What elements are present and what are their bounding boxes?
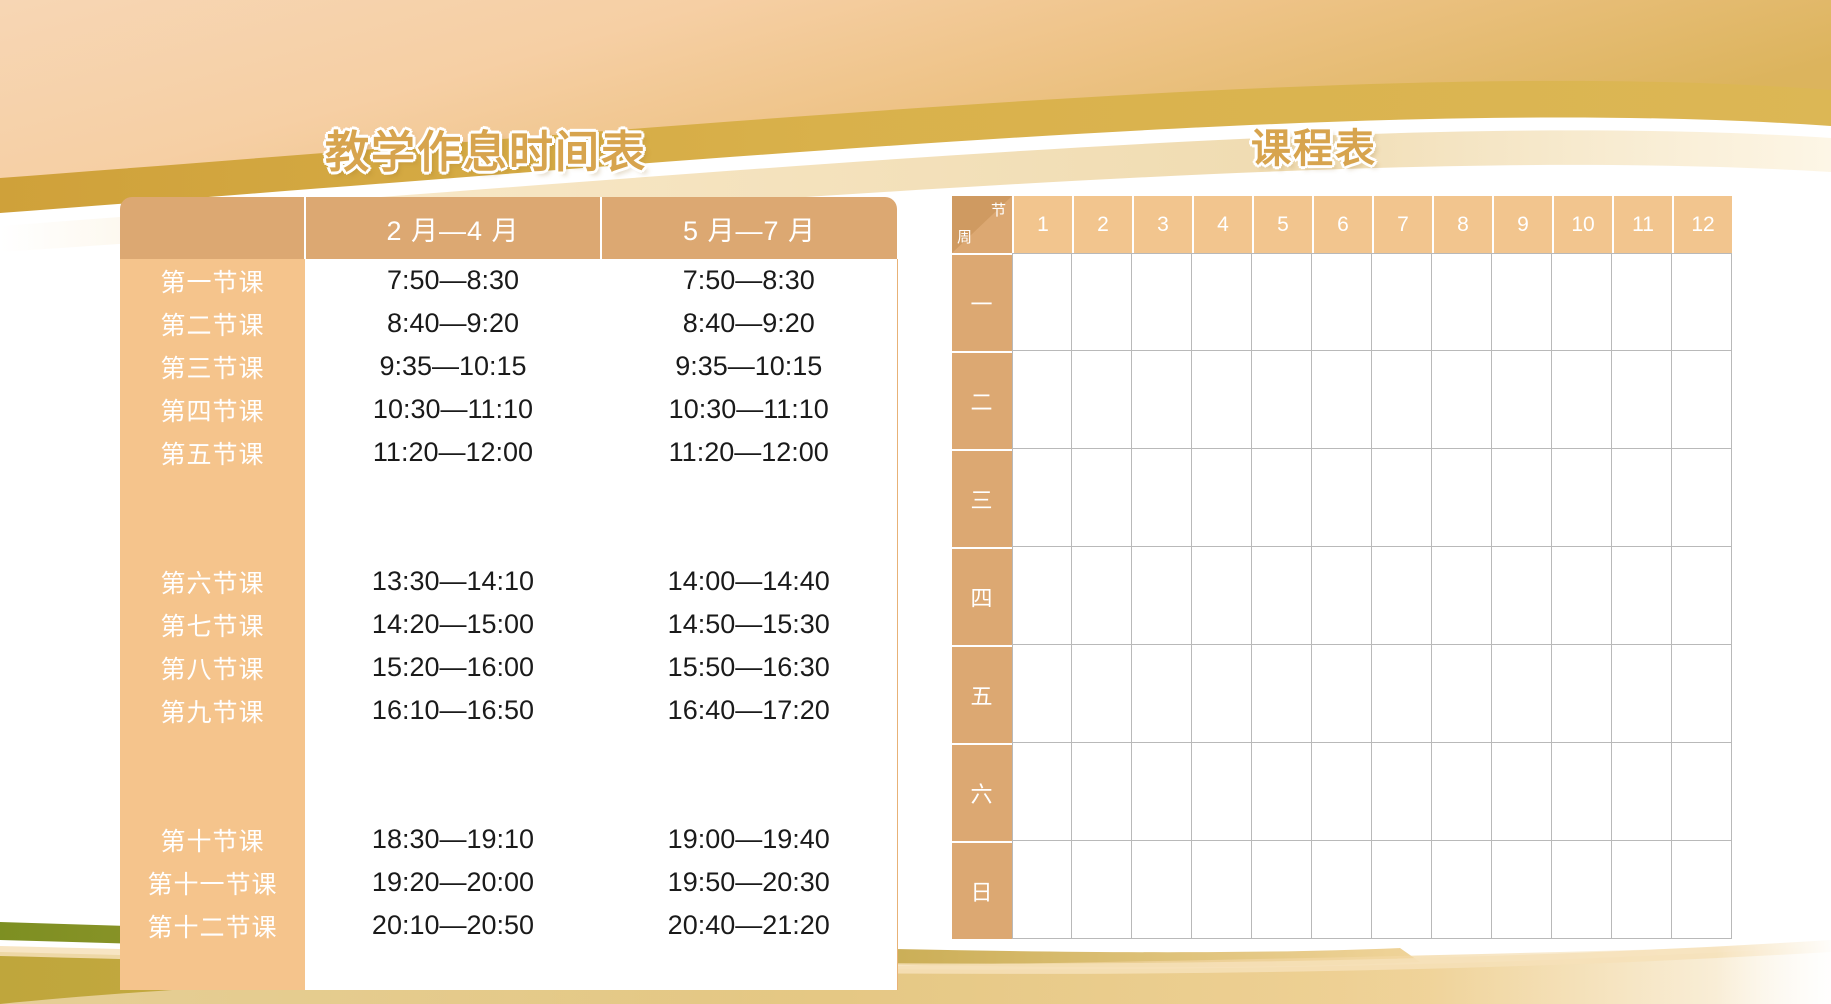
course-cell[interactable]: [1672, 645, 1732, 743]
course-cell[interactable]: [1612, 645, 1672, 743]
timetable-head: 2 月—4 月 5 月—7 月: [120, 197, 897, 259]
course-grid-row: 四: [952, 547, 1732, 645]
course-cell[interactable]: [1312, 547, 1372, 645]
divider-time-cell: [305, 732, 601, 775]
period-label: 第三节课: [120, 345, 305, 388]
course-cell[interactable]: [1552, 645, 1612, 743]
course-cell[interactable]: [1312, 253, 1372, 351]
timetable-body: 第一节课7:50—8:307:50—8:30第二节课8:40—9:208:40—…: [120, 259, 897, 990]
course-cell[interactable]: [1612, 841, 1672, 939]
gap-label-cell: [120, 517, 305, 560]
period-label: 第十二节课: [120, 904, 305, 947]
course-cell[interactable]: [1072, 743, 1132, 841]
course-cell[interactable]: [1672, 841, 1732, 939]
course-cell[interactable]: [1432, 743, 1492, 841]
period-label: 第二节课: [120, 302, 305, 345]
timetable-row: 第九节课16:10—16:5016:40—17:20: [120, 689, 897, 732]
course-cell[interactable]: [1192, 449, 1252, 547]
course-cell[interactable]: [1672, 743, 1732, 841]
period-label: 第一节课: [120, 259, 305, 302]
course-cell[interactable]: [1192, 841, 1252, 939]
course-cell[interactable]: [1192, 351, 1252, 449]
course-cell[interactable]: [1132, 841, 1192, 939]
timetable-section-divider: [120, 732, 897, 775]
divider-label-cell: [120, 474, 305, 517]
course-cell[interactable]: [1492, 253, 1552, 351]
course-cell[interactable]: [1132, 351, 1192, 449]
course-cell[interactable]: [1072, 645, 1132, 743]
timetable-row: 第十二节课20:10—20:5020:40—21:20: [120, 904, 897, 947]
period-label: 第六节课: [120, 560, 305, 603]
course-cell[interactable]: [1372, 645, 1432, 743]
time-spring: 13:30—14:10: [305, 560, 601, 603]
course-cell[interactable]: [1072, 547, 1132, 645]
divider-time-cell: [305, 474, 601, 517]
period-header-11[interactable]: 11: [1612, 196, 1672, 253]
course-grid-row: 六: [952, 743, 1732, 841]
course-cell[interactable]: [1432, 841, 1492, 939]
course-cell[interactable]: [1312, 645, 1372, 743]
time-spring: 11:20—12:00: [305, 431, 601, 474]
course-cell[interactable]: [1312, 449, 1372, 547]
time-summer: 16:40—17:20: [601, 689, 897, 732]
day-label-日: 日: [952, 841, 1012, 939]
day-label-一: 一: [952, 253, 1012, 351]
course-cell[interactable]: [1192, 645, 1252, 743]
course-cell[interactable]: [1432, 547, 1492, 645]
period-header-9[interactable]: 9: [1492, 196, 1552, 253]
timetable-row: 第十一节课19:20—20:0019:50—20:30: [120, 861, 897, 904]
course-cell[interactable]: [1252, 351, 1312, 449]
course-cell[interactable]: [1012, 253, 1072, 351]
timetable-row: 第五节课11:20—12:0011:20—12:00: [120, 431, 897, 474]
course-cell[interactable]: [1072, 841, 1132, 939]
period-header-5[interactable]: 5: [1252, 196, 1312, 253]
course-cell[interactable]: [1072, 449, 1132, 547]
timetable-header-blank: [120, 197, 305, 259]
period-header-7[interactable]: 7: [1372, 196, 1432, 253]
timetable-section-gap: [120, 775, 897, 818]
course-cell[interactable]: [1432, 351, 1492, 449]
course-grid-row: 二: [952, 351, 1732, 449]
course-cell[interactable]: [1672, 253, 1732, 351]
course-cell[interactable]: [1252, 743, 1312, 841]
course-cell[interactable]: [1132, 743, 1192, 841]
course-cell[interactable]: [1372, 449, 1432, 547]
course-grid-panel: 节 周 123456789101112 一二三四五六日: [952, 196, 1732, 939]
time-summer: 11:20—12:00: [601, 431, 897, 474]
time-spring: 20:10—20:50: [305, 904, 601, 947]
course-grid-row: 五: [952, 645, 1732, 743]
period-header-12[interactable]: 12: [1672, 196, 1732, 253]
time-spring: 15:20—16:00: [305, 646, 601, 689]
course-cell[interactable]: [1192, 253, 1252, 351]
period-label: 第五节课: [120, 431, 305, 474]
course-cell[interactable]: [1612, 253, 1672, 351]
day-label-六: 六: [952, 743, 1012, 841]
course-cell[interactable]: [1672, 351, 1732, 449]
course-cell[interactable]: [1432, 645, 1492, 743]
period-label: 第四节课: [120, 388, 305, 431]
course-cell[interactable]: [1672, 449, 1732, 547]
timetable-section-gap: [120, 517, 897, 560]
page-title-course-grid: 课程表: [1251, 116, 1377, 174]
course-cell[interactable]: [1192, 743, 1252, 841]
course-cell[interactable]: [1372, 841, 1432, 939]
time-summer: 20:40—21:20: [601, 904, 897, 947]
corner-day-label: 周: [957, 230, 972, 245]
timetable-header-summer: 5 月—7 月: [601, 197, 897, 259]
period-label: 第十一节课: [120, 861, 305, 904]
period-label: 第七节课: [120, 603, 305, 646]
course-cell[interactable]: [1612, 547, 1672, 645]
course-grid: 节 周 123456789101112 一二三四五六日: [952, 196, 1732, 939]
course-cell[interactable]: [1552, 351, 1612, 449]
course-cell[interactable]: [1552, 547, 1612, 645]
course-cell[interactable]: [1012, 743, 1072, 841]
time-spring: 7:50—8:30: [305, 259, 601, 302]
timetable-row: 第六节课13:30—14:1014:00—14:40: [120, 560, 897, 603]
time-summer: 10:30—11:10: [601, 388, 897, 431]
course-cell[interactable]: [1612, 351, 1672, 449]
course-cell[interactable]: [1132, 547, 1192, 645]
course-cell[interactable]: [1612, 743, 1672, 841]
course-grid-body: 一二三四五六日: [952, 253, 1732, 939]
course-cell[interactable]: [1012, 547, 1072, 645]
course-cell[interactable]: [1252, 645, 1312, 743]
course-cell[interactable]: [1492, 449, 1552, 547]
time-summer: 14:00—14:40: [601, 560, 897, 603]
timetable-row: 第十节课18:30—19:1019:00—19:40: [120, 818, 897, 861]
course-cell[interactable]: [1492, 547, 1552, 645]
time-summer: 15:50—16:30: [601, 646, 897, 689]
page-title-timetable: 教学作息时间表: [325, 116, 647, 180]
divider-time-cell: [601, 947, 897, 990]
course-cell[interactable]: [1492, 351, 1552, 449]
course-cell[interactable]: [1552, 743, 1612, 841]
timetable-panel: 2 月—4 月 5 月—7 月 第一节课7:50—8:307:50—8:30第二…: [120, 197, 897, 990]
course-cell[interactable]: [1252, 547, 1312, 645]
gap-label-cell: [120, 775, 305, 818]
corner-header-cell: 节 周: [952, 196, 1012, 253]
course-grid-row: 日: [952, 841, 1732, 939]
course-cell[interactable]: [1552, 253, 1612, 351]
period-header-4[interactable]: 4: [1192, 196, 1252, 253]
course-cell[interactable]: [1612, 449, 1672, 547]
period-header-2[interactable]: 2: [1072, 196, 1132, 253]
course-grid-row: 三: [952, 449, 1732, 547]
course-cell[interactable]: [1432, 253, 1492, 351]
day-label-二: 二: [952, 351, 1012, 449]
course-cell[interactable]: [1672, 547, 1732, 645]
course-cell[interactable]: [1012, 351, 1072, 449]
course-cell[interactable]: [1432, 449, 1492, 547]
period-label: 第八节课: [120, 646, 305, 689]
course-cell[interactable]: [1372, 547, 1432, 645]
course-cell[interactable]: [1492, 743, 1552, 841]
timetable-section-divider: [120, 474, 897, 517]
course-cell[interactable]: [1372, 743, 1432, 841]
course-cell[interactable]: [1072, 351, 1132, 449]
course-cell[interactable]: [1012, 841, 1072, 939]
timetable-row: 第四节课10:30—11:1010:30—11:10: [120, 388, 897, 431]
timetable-header-row: 2 月—4 月 5 月—7 月: [120, 197, 897, 259]
timetable-section-divider: [120, 947, 897, 990]
course-cell[interactable]: [1492, 645, 1552, 743]
course-cell[interactable]: [1132, 449, 1192, 547]
time-summer: 7:50—8:30: [601, 259, 897, 302]
course-cell[interactable]: [1252, 449, 1312, 547]
period-label: 第九节课: [120, 689, 305, 732]
time-spring: 10:30—11:10: [305, 388, 601, 431]
time-spring: 9:35—10:15: [305, 345, 601, 388]
day-label-五: 五: [952, 645, 1012, 743]
course-cell[interactable]: [1372, 351, 1432, 449]
corner-period-label: 节: [991, 203, 1006, 218]
day-label-四: 四: [952, 547, 1012, 645]
course-cell[interactable]: [1552, 841, 1612, 939]
timetable: 2 月—4 月 5 月—7 月 第一节课7:50—8:307:50—8:30第二…: [120, 197, 898, 990]
time-spring: 8:40—9:20: [305, 302, 601, 345]
time-summer: 14:50—15:30: [601, 603, 897, 646]
time-spring: 16:10—16:50: [305, 689, 601, 732]
period-header-6[interactable]: 6: [1312, 196, 1372, 253]
course-cell[interactable]: [1552, 449, 1612, 547]
divider-label-cell: [120, 947, 305, 990]
gap-time-cell: [601, 775, 897, 818]
course-cell[interactable]: [1012, 449, 1072, 547]
period-header-1[interactable]: 1: [1012, 196, 1072, 253]
course-cell[interactable]: [1312, 351, 1372, 449]
period-header-3[interactable]: 3: [1132, 196, 1192, 253]
period-header-10[interactable]: 10: [1552, 196, 1612, 253]
timetable-row: 第三节课9:35—10:159:35—10:15: [120, 345, 897, 388]
course-cell[interactable]: [1132, 253, 1192, 351]
course-cell[interactable]: [1132, 645, 1192, 743]
course-cell[interactable]: [1312, 743, 1372, 841]
time-spring: 14:20—15:00: [305, 603, 601, 646]
time-spring: 19:20—20:00: [305, 861, 601, 904]
time-summer: 9:35—10:15: [601, 345, 897, 388]
divider-time-cell: [305, 947, 601, 990]
divider-label-cell: [120, 732, 305, 775]
course-cell[interactable]: [1252, 841, 1312, 939]
course-cell[interactable]: [1312, 841, 1372, 939]
timetable-row: 第一节课7:50—8:307:50—8:30: [120, 259, 897, 302]
course-grid-head: 节 周 123456789101112: [952, 196, 1732, 253]
divider-time-cell: [601, 474, 897, 517]
period-label: 第十节课: [120, 818, 305, 861]
gap-time-cell: [601, 517, 897, 560]
course-cell[interactable]: [1072, 253, 1132, 351]
timetable-row: 第二节课8:40—9:208:40—9:20: [120, 302, 897, 345]
divider-time-cell: [601, 732, 897, 775]
course-cell[interactable]: [1492, 841, 1552, 939]
gap-time-cell: [305, 517, 601, 560]
timetable-row: 第七节课14:20—15:0014:50—15:30: [120, 603, 897, 646]
course-cell[interactable]: [1192, 547, 1252, 645]
time-summer: 19:00—19:40: [601, 818, 897, 861]
period-header-8[interactable]: 8: [1432, 196, 1492, 253]
course-grid-header-row: 节 周 123456789101112: [952, 196, 1732, 253]
course-cell[interactable]: [1012, 645, 1072, 743]
time-summer: 19:50—20:30: [601, 861, 897, 904]
timetable-row: 第八节课15:20—16:0015:50—16:30: [120, 646, 897, 689]
day-label-三: 三: [952, 449, 1012, 547]
gap-time-cell: [305, 775, 601, 818]
course-grid-row: 一: [952, 253, 1732, 351]
time-spring: 18:30—19:10: [305, 818, 601, 861]
time-summer: 8:40—9:20: [601, 302, 897, 345]
course-cell[interactable]: [1252, 253, 1312, 351]
course-cell[interactable]: [1372, 253, 1432, 351]
timetable-header-spring: 2 月—4 月: [305, 197, 601, 259]
